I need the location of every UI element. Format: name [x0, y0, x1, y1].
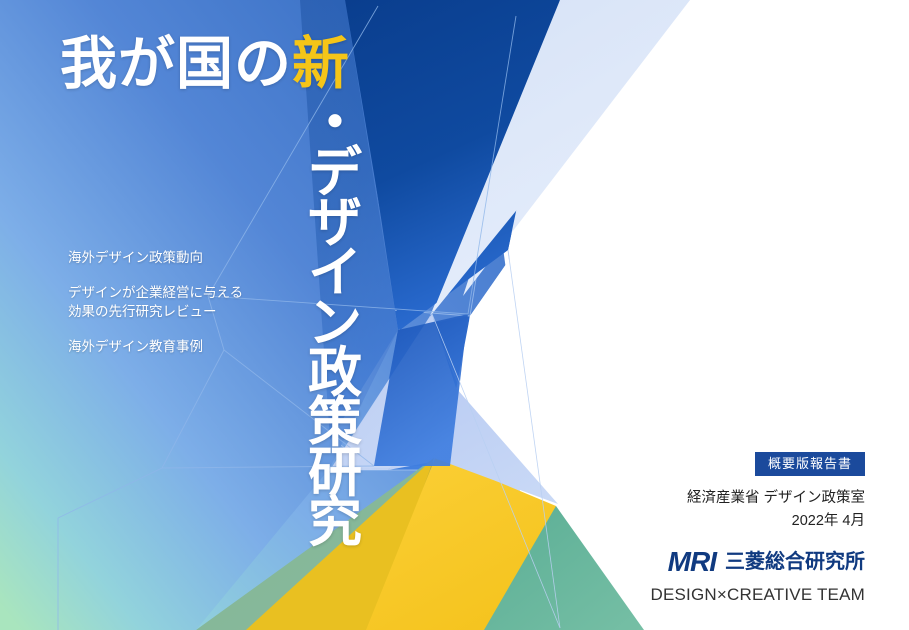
- publisher-meta: 経済産業省 デザイン政策室2022年 4月: [545, 487, 865, 533]
- vertical-title-char: 策: [304, 398, 366, 448]
- subtitle-line: 海外デザイン教育事例: [68, 337, 298, 356]
- mri-wordmark-icon: MRI: [668, 548, 716, 576]
- subtitle-item: 海外デザイン政策動向: [68, 248, 298, 267]
- vertical-title-char: デ: [304, 148, 366, 198]
- vertical-title-char: ン: [304, 298, 366, 348]
- page-title-prefix: 我が国の: [60, 32, 292, 96]
- publisher-meta-line: 経済産業省 デザイン政策室: [545, 487, 865, 510]
- subtitle-item: デザインが企業経営に与える効果の先行研究レビュー: [68, 283, 298, 321]
- vertical-title: ・デザイン政策研究: [304, 98, 366, 598]
- subtitle-line: 海外デザイン政策動向: [68, 248, 298, 267]
- status-badge: 概要版報告書: [755, 452, 865, 476]
- vertical-title-char: イ: [304, 248, 366, 298]
- vertical-title-char: ザ: [304, 198, 366, 248]
- slide-canvas: 我が国の新 ・デザイン政策研究 海外デザイン政策動向デザインが企業経営に与える効…: [0, 0, 909, 630]
- subtitle-line: デザインが企業経営に与える: [68, 283, 298, 302]
- vertical-title-char: 研: [304, 448, 366, 498]
- subtitle-list: 海外デザイン政策動向デザインが企業経営に与える効果の先行研究レビュー海外デザイン…: [68, 248, 298, 356]
- publisher-meta-line: 2022年 4月: [545, 510, 865, 533]
- vertical-title-char: 政: [304, 348, 366, 398]
- mri-company-name: 三菱総合研究所: [725, 548, 865, 576]
- subtitle-line: 効果の先行研究レビュー: [68, 302, 298, 321]
- page-title: 我が国の新: [60, 26, 400, 102]
- mri-logo: MRI三菱総合研究所: [545, 548, 865, 576]
- vertical-title-char: 究: [304, 498, 366, 548]
- team-name: DESIGN×CREATIVE TEAM: [545, 585, 865, 605]
- vertical-title-char: ・: [304, 98, 366, 148]
- subtitle-item: 海外デザイン教育事例: [68, 337, 298, 356]
- page-title-accent: 新: [292, 32, 350, 96]
